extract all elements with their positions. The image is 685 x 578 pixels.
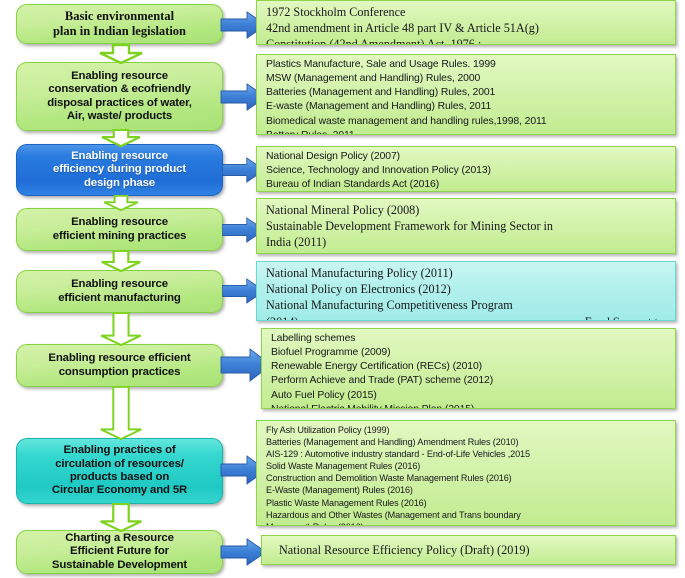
detail-box-consumption-practices[interactable]: Labelling schemes Biofuel Programme (200… bbox=[261, 328, 676, 409]
down-arrow-3 bbox=[98, 195, 144, 211]
detail-line: National Mineral Policy (2008) bbox=[266, 202, 670, 218]
detail-line: National Policy on Electronics (2012) bbox=[266, 281, 670, 297]
stage-label: Enabling resource efficient manufacturin… bbox=[58, 278, 181, 305]
detail-box-efficient-manufacturing[interactable]: National Manufacturing Policy (2011) Nat… bbox=[256, 261, 676, 321]
detail-line: Battery Rules, 2011 bbox=[266, 129, 670, 135]
stage-box-efficient-mining[interactable]: Enabling resource efficient mining pract… bbox=[16, 208, 223, 251]
stage-box-resource-conservation[interactable]: Enabling resource conservation & ecofrie… bbox=[16, 62, 223, 131]
down-arrow-4 bbox=[98, 250, 144, 272]
detail-line: 1972 Stockholm Conference bbox=[266, 4, 670, 20]
detail-line: E-Waste (Management) Rules (2016) bbox=[266, 484, 670, 496]
down-arrow-6 bbox=[98, 386, 144, 440]
detail-line: Biomedical waste management and handling… bbox=[266, 115, 670, 129]
down-arrow-2 bbox=[98, 129, 144, 147]
down-arrow-7 bbox=[98, 503, 144, 532]
detail-line-year: (2014) bbox=[266, 315, 299, 321]
detail-box-circular-economy-5r[interactable]: Fly Ash Utilization Policy (1999) Batter… bbox=[256, 420, 676, 526]
detail-line: National Resource Efficiency Policy (Dra… bbox=[271, 542, 530, 558]
stage-box-resource-efficient-future[interactable]: Charting a Resource Efficient Future for… bbox=[16, 530, 223, 574]
stage-label: Charting a Resource Efficient Future for… bbox=[52, 532, 187, 572]
stage-label: Enabling resource efficient mining pract… bbox=[53, 216, 186, 243]
stage-label: Enabling resource efficiency during prod… bbox=[53, 150, 186, 190]
right-arrow-resource-efficient-future bbox=[220, 538, 267, 566]
detail-line: Plastic Waste Management Rules (2016) bbox=[266, 497, 670, 509]
stage-box-consumption-practices[interactable]: Enabling resource efficient consumption … bbox=[16, 344, 223, 387]
stage-box-product-design-phase[interactable]: Enabling resource efficiency during prod… bbox=[16, 144, 223, 196]
detail-line: Constitution (42nd Amendment) Act, 1976 … bbox=[266, 36, 670, 45]
detail-box-resource-efficient-future[interactable]: National Resource Efficiency Policy (Dra… bbox=[261, 535, 676, 565]
stage-label: Enabling practices of circulation of res… bbox=[52, 444, 187, 498]
detail-line-year-fund: Fund Support to (2014) bbox=[266, 314, 670, 321]
detail-line: Batteries (Management and Handling) Rule… bbox=[266, 86, 670, 100]
detail-box-product-design-phase[interactable]: National Design Policy (2007) Science, T… bbox=[256, 146, 676, 192]
detail-line: National Manufacturing Competitiveness P… bbox=[266, 297, 670, 313]
detail-line: Sustainable Development Framework for Mi… bbox=[266, 218, 670, 234]
detail-box-resource-conservation[interactable]: Plastics Manufacture, Sale and Usage Rul… bbox=[256, 54, 676, 135]
detail-line: National Electric Mobility Mission Plan … bbox=[271, 403, 670, 409]
detail-line: Labelling schemes bbox=[271, 332, 670, 346]
stage-label: Enabling resource conservation & ecofrie… bbox=[47, 70, 192, 124]
detail-line: National Design Policy (2007) bbox=[266, 150, 670, 164]
detail-line: Movement) Rules (2016) bbox=[266, 521, 670, 526]
detail-line: Plastics Manufacture, Sale and Usage Rul… bbox=[266, 58, 670, 72]
stage-label: Basic environmental plan in Indian legis… bbox=[53, 9, 186, 39]
detail-line: Solid Waste Management Rules (2016) bbox=[266, 460, 670, 472]
detail-line: Fly Ash Utilization Policy (1999) bbox=[266, 424, 670, 436]
fund-support-note: Fund Support to bbox=[585, 314, 664, 321]
detail-line: E-waste (Management and Handling) Rules,… bbox=[266, 100, 670, 114]
detail-line: Auto Fuel Policy (2015) bbox=[271, 389, 670, 403]
detail-line: Hazardous and Other Wastes (Management a… bbox=[266, 509, 670, 521]
stage-box-efficient-manufacturing[interactable]: Enabling resource efficient manufacturin… bbox=[16, 270, 223, 313]
detail-line: Perform Achieve and Trade (PAT) scheme (… bbox=[271, 374, 670, 388]
detail-line: Renewable Energy Certification (RECs) (2… bbox=[271, 360, 670, 374]
detail-line: Minerals and Mining Development Regulato… bbox=[266, 251, 670, 254]
down-arrow-5 bbox=[98, 312, 144, 346]
down-arrow-1 bbox=[98, 44, 144, 64]
detail-box-efficient-mining[interactable]: National Mineral Policy (2008) Sustainab… bbox=[256, 198, 676, 254]
detail-line: Bureau of Indian Standards Act (2016) bbox=[266, 178, 670, 192]
detail-line: National Manufacturing Policy (2011) bbox=[266, 265, 670, 281]
flowchart-diagram: Basic environmental plan in Indian legis… bbox=[0, 0, 685, 578]
detail-line: AIS-129 : Automotive industry standard -… bbox=[266, 448, 670, 460]
stage-label: Enabling resource efficient consumption … bbox=[48, 352, 190, 379]
detail-line: 42nd amendment in Article 48 part IV & A… bbox=[266, 20, 670, 36]
stage-box-circular-economy-5r[interactable]: Enabling practices of circulation of res… bbox=[16, 438, 223, 504]
detail-line: MSW (Management and Handling) Rules, 200… bbox=[266, 72, 670, 86]
stage-box-basic-environmental-plan[interactable]: Basic environmental plan in Indian legis… bbox=[16, 4, 223, 44]
detail-line: Batteries (Management and Handling) Amen… bbox=[266, 436, 670, 448]
detail-line: Science, Technology and Innovation Polic… bbox=[266, 164, 670, 178]
detail-line: Construction and Demolition Waste Manage… bbox=[266, 472, 670, 484]
detail-box-basic-environmental-plan[interactable]: 1972 Stockholm Conference 42nd amendment… bbox=[256, 0, 676, 45]
detail-line: Biofuel Programme (2009) bbox=[271, 346, 670, 360]
detail-line: India (2011) bbox=[266, 234, 670, 250]
